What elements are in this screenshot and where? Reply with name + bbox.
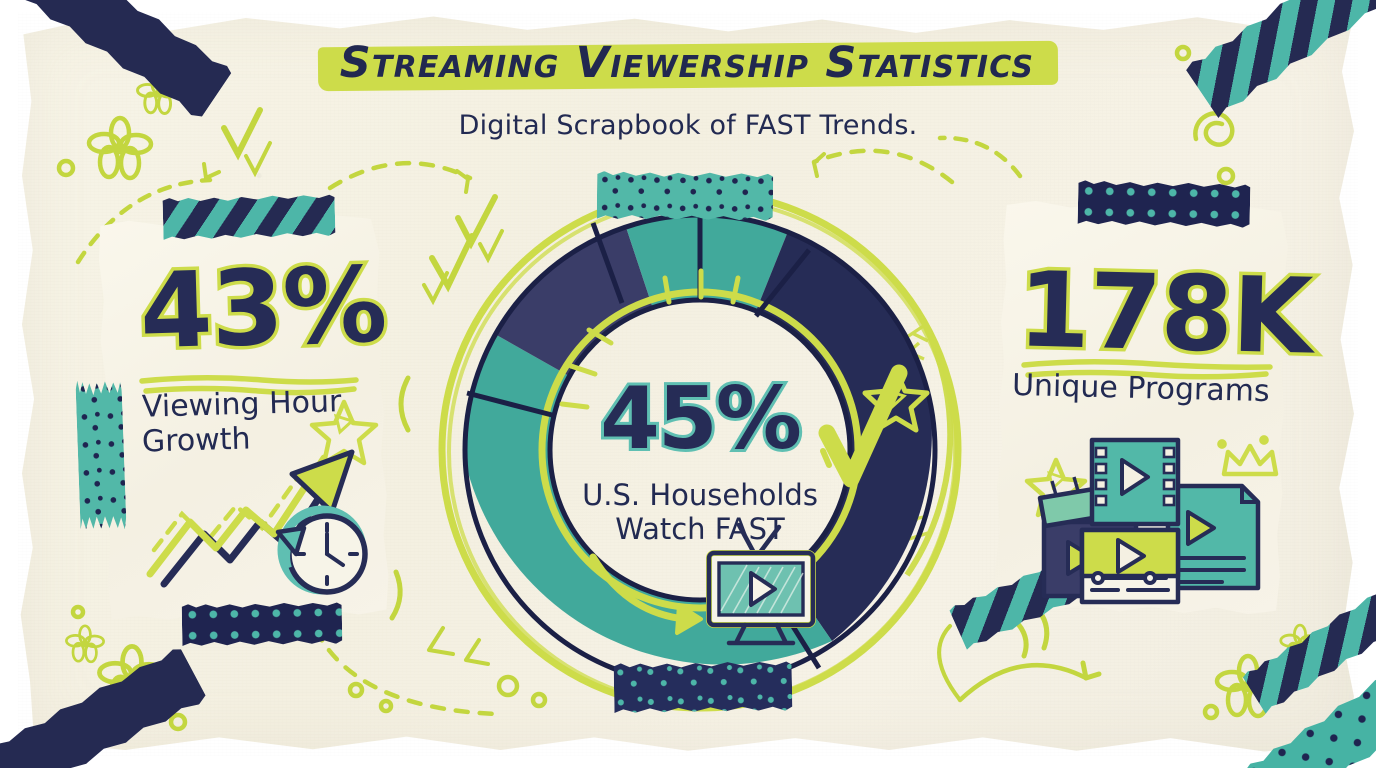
page-title: Streaming Viewership Statistics [340,38,1034,88]
donut-center-label-line1: U.S. Households [535,478,865,512]
left-card-label-line1: Viewing Hour [142,385,342,425]
tape-donut-bottom [614,660,793,713]
infographic-canvas: Streaming Viewership Statistics Digital … [0,0,1376,768]
donut-chart: 45% U.S. Households Watch FAST [425,175,975,725]
tape-right-card-top [1078,180,1251,228]
right-card-value: 178K [1017,248,1314,377]
donut-center-label-line2: Watch FAST [535,512,865,546]
tape-left-card-bottom [182,602,343,647]
tape-left-card-top [162,194,335,240]
title-highlight: Streaming Viewership Statistics [318,34,1058,94]
left-card-value: 43% [138,244,387,373]
header-block: Streaming Viewership Statistics Digital … [0,34,1376,141]
tape-donut-top [597,171,773,221]
donut-center-value: 45% [535,376,865,462]
right-card-label: Unique Programs [1012,369,1270,410]
tape-left-card-side [75,379,126,531]
donut-center-block: 45% U.S. Households Watch FAST [535,376,865,546]
left-card-label-line2: Growth [142,422,252,460]
page-subtitle: Digital Scrapbook of FAST Trends. [0,110,1376,141]
